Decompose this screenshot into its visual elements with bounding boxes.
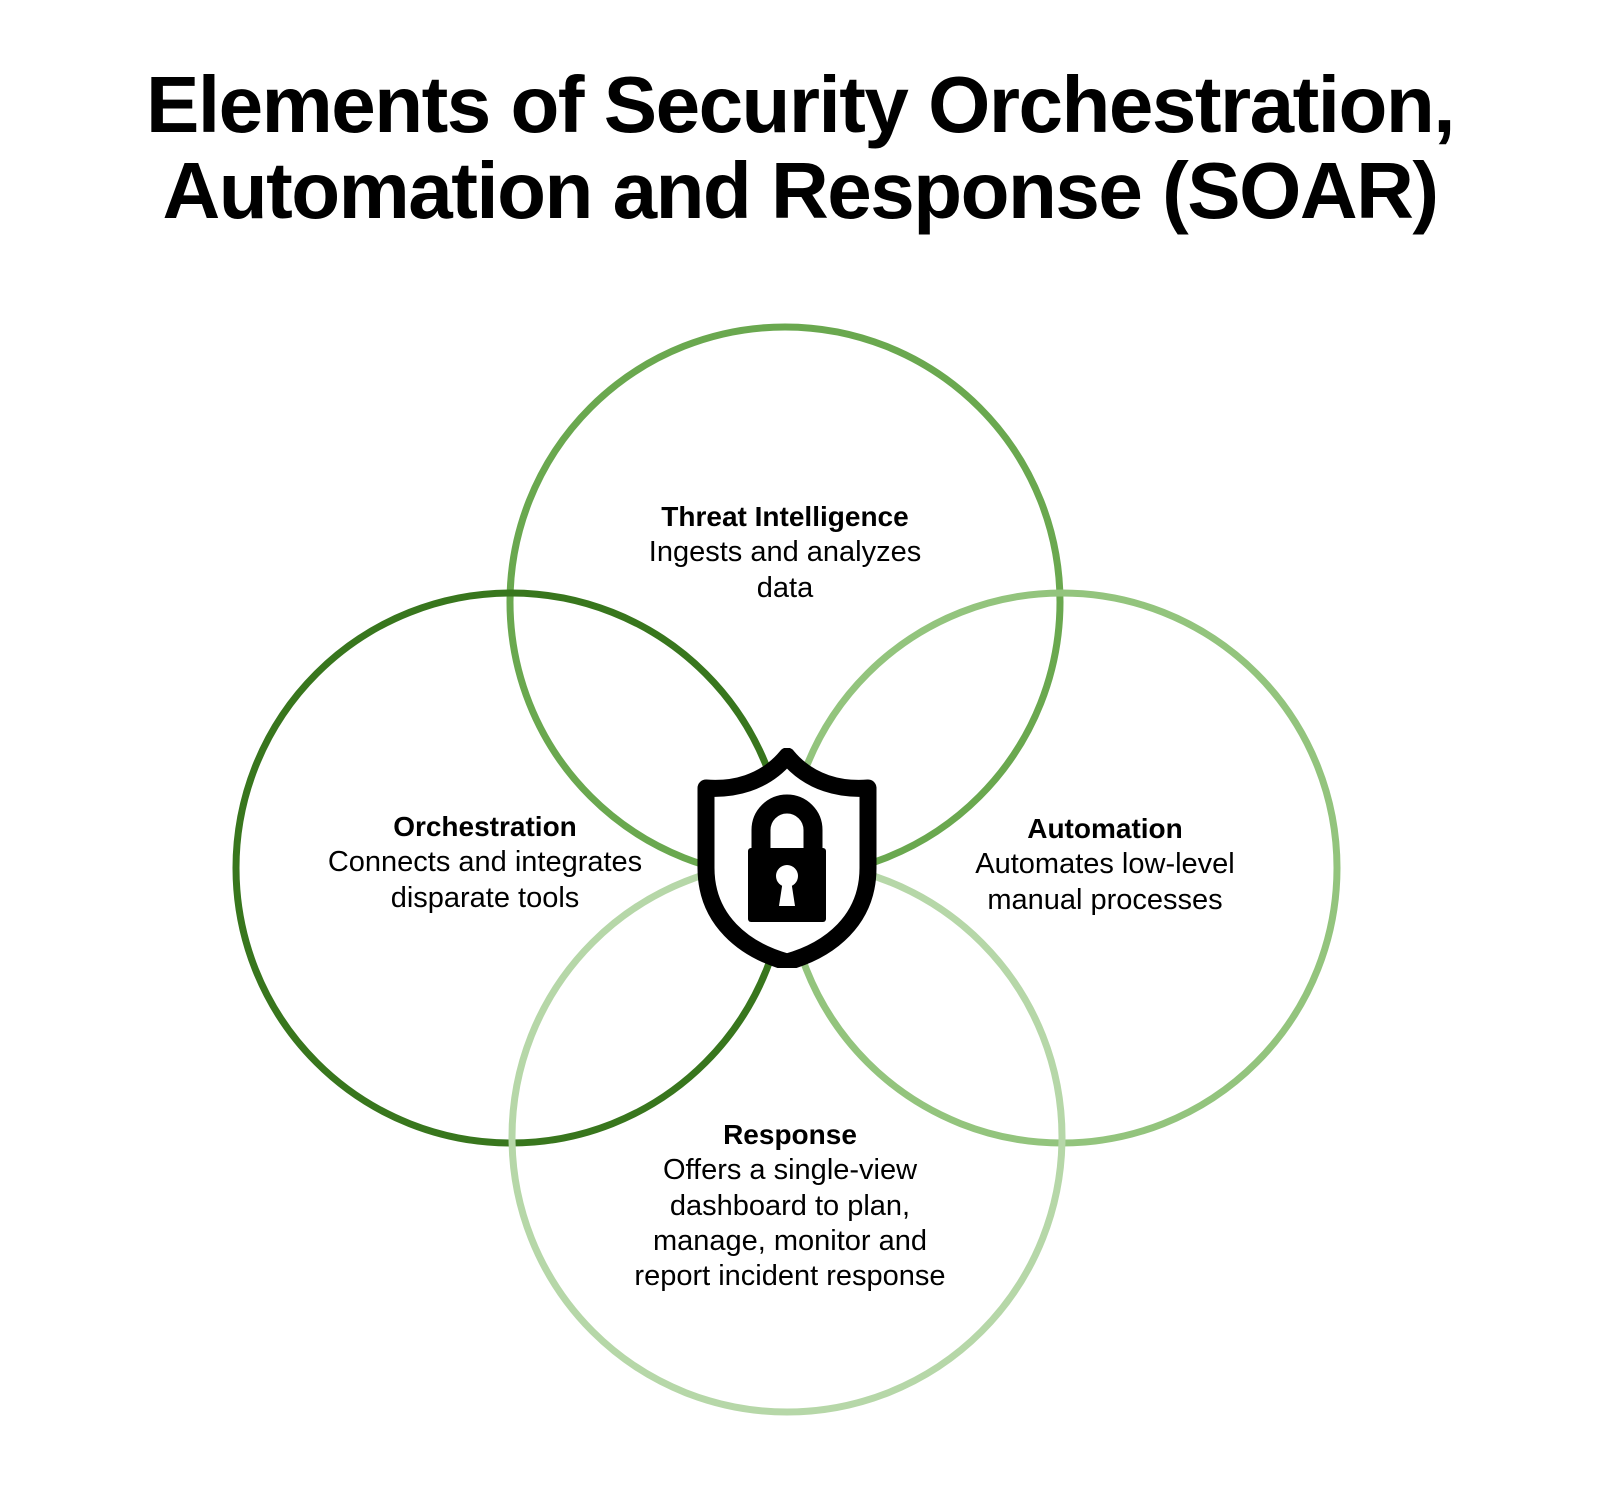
label-threat-intelligence-description: Ingests and analyzes data xyxy=(565,535,1005,606)
shield-lock-icon xyxy=(692,748,882,968)
label-threat-intelligence-title: Threat Intelligence xyxy=(565,500,1005,534)
label-orchestration-title: Orchestration xyxy=(270,810,700,844)
label-threat-intelligence: Threat Intelligence Ingests and analyzes… xyxy=(565,500,1005,606)
label-response: Response Offers a single-view dashboard … xyxy=(575,1118,1005,1295)
label-automation-title: Automation xyxy=(905,812,1305,846)
label-automation: Automation Automates low-level manual pr… xyxy=(905,812,1305,918)
soar-diagram-page: Elements of Security Orchestration, Auto… xyxy=(0,0,1600,1488)
label-orchestration-description: Connects and integrates disparate tools xyxy=(270,845,700,916)
label-response-description: Offers a single-view dashboard to plan, … xyxy=(575,1153,1005,1295)
venn-diagram: Threat Intelligence Ingests and analyzes… xyxy=(0,0,1600,1488)
label-automation-description: Automates low-level manual processes xyxy=(905,847,1305,918)
label-response-title: Response xyxy=(575,1118,1005,1152)
label-orchestration: Orchestration Connects and integrates di… xyxy=(270,810,700,916)
